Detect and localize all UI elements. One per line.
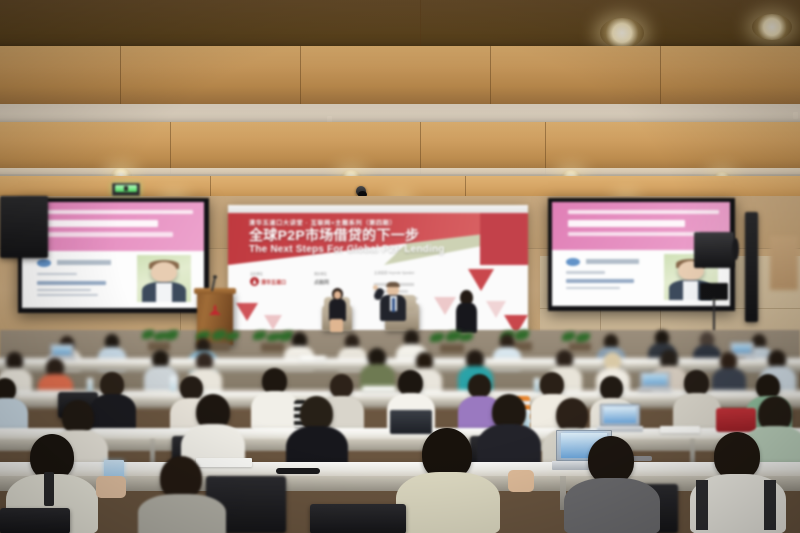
wall-column-right [770,236,798,290]
paper-sheet [660,426,700,433]
sponsor-text-mid: 点融网 [314,279,329,286]
downlight [752,14,792,40]
red-handbag [716,408,756,432]
laptop [600,404,640,432]
pen [276,468,320,474]
sponsor-seal-icon [250,277,259,286]
desk-row [0,358,800,365]
podium-emblem-icon [209,304,221,315]
lanyard [44,472,54,506]
sponsor-text-left: 清华五道口 [261,279,286,286]
water-bottle [170,376,176,391]
potted-plant [140,330,180,352]
bag-strap [696,480,708,530]
speaker-portrait-left [137,255,192,302]
chair-back [0,508,70,533]
lecture-hall-photo: 清华五道口大讲堂 · 互联网+主题系列（第四期） 全球P2P市场借贷的下一步 T… [0,0,800,533]
sponsor-label-mid: 承办单位 [314,271,327,276]
chair-back [310,504,406,533]
backpack [390,410,432,434]
potted-plant [430,331,474,353]
emergency-exit-sign [112,183,140,196]
slide-body-left [22,251,204,308]
paper-sheet [300,356,326,361]
dome-camera-icon [356,186,366,196]
video-camera-on-tripod [694,232,734,338]
hand [508,470,534,492]
ceiling [0,0,800,205]
backdrop-info-col-1: 主讲嘉宾 Keynote Speaker [374,271,415,276]
wall-speaker-left [0,196,48,258]
downlight [600,18,644,48]
potted-plant [560,332,600,352]
paper-sheet [196,458,252,467]
backdrop-title-en: The Next Steps For Global P2P Lending [249,245,445,255]
slide-header-left [22,202,204,251]
water-bottle [87,378,93,392]
backdrop-title-cn: 全球P2P市场借贷的下一步 [249,228,419,242]
paper-sheet [362,386,396,392]
keynote-speaker [378,283,408,333]
laptop [640,372,670,392]
sponsor-label-left: 主办单位 [250,271,263,276]
hand [96,476,126,498]
backdrop-kicker: 清华五道口大讲堂 · 互联网+主题系列（第四期） [249,218,396,227]
wall-speaker-right [745,212,758,322]
moderator [327,288,349,334]
bag-strap [764,480,776,530]
